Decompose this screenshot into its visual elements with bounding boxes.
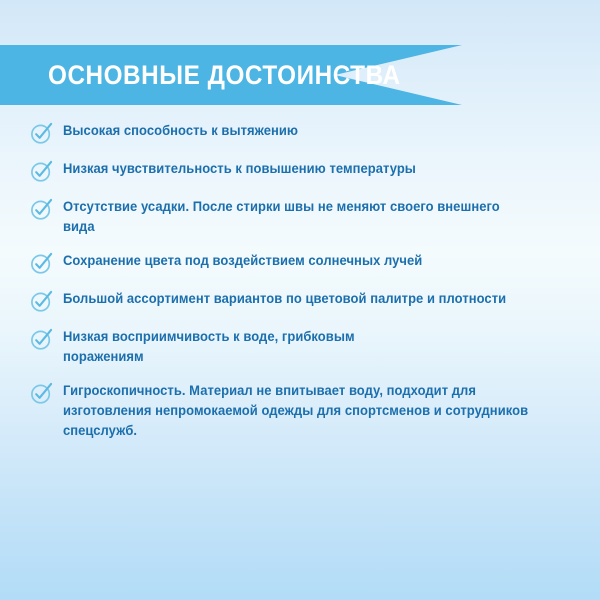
check-circle-icon — [30, 290, 53, 313]
list-item-label: Большой ассортимент вариантов по цветово… — [63, 289, 506, 309]
check-circle-icon — [30, 160, 53, 183]
list-item: Сохранение цвета под воздействием солнеч… — [30, 251, 582, 275]
benefits-poster: ОСНОВНЫЕ ДОСТОИНСТВА Высокая способность… — [0, 0, 600, 600]
check-circle-icon — [30, 382, 53, 405]
check-circle-icon — [30, 198, 53, 221]
header-ribbon: ОСНОВНЫЕ ДОСТОИНСТВА — [0, 45, 462, 105]
list-item-label: Низкая чувствительность к повышению темп… — [63, 159, 416, 179]
list-item: Низкая восприимчивость к воде, грибковым… — [30, 327, 582, 367]
check-circle-icon — [30, 122, 53, 145]
page-title: ОСНОВНЫЕ ДОСТОИНСТВА — [48, 45, 401, 105]
list-item-label: Отсутствие усадки. После стирки швы не м… — [63, 197, 512, 237]
list-item-label: Гигроскопичность. Материал не впитывает … — [63, 381, 542, 441]
list-item: Отсутствие усадки. После стирки швы не м… — [30, 197, 582, 237]
check-circle-icon — [30, 328, 53, 351]
list-item: Высокая способность к вытяжению — [30, 121, 582, 145]
check-circle-icon — [30, 252, 53, 275]
benefits-list: Высокая способность к вытяжению Низкая ч… — [30, 121, 582, 455]
list-item-label: Низкая восприимчивость к воде, грибковым… — [63, 327, 426, 367]
list-item: Большой ассортимент вариантов по цветово… — [30, 289, 582, 313]
list-item-label: Сохранение цвета под воздействием солнеч… — [63, 251, 422, 271]
list-item: Гигроскопичность. Материал не впитывает … — [30, 381, 582, 441]
list-item-label: Высокая способность к вытяжению — [63, 121, 298, 141]
list-item: Низкая чувствительность к повышению темп… — [30, 159, 582, 183]
